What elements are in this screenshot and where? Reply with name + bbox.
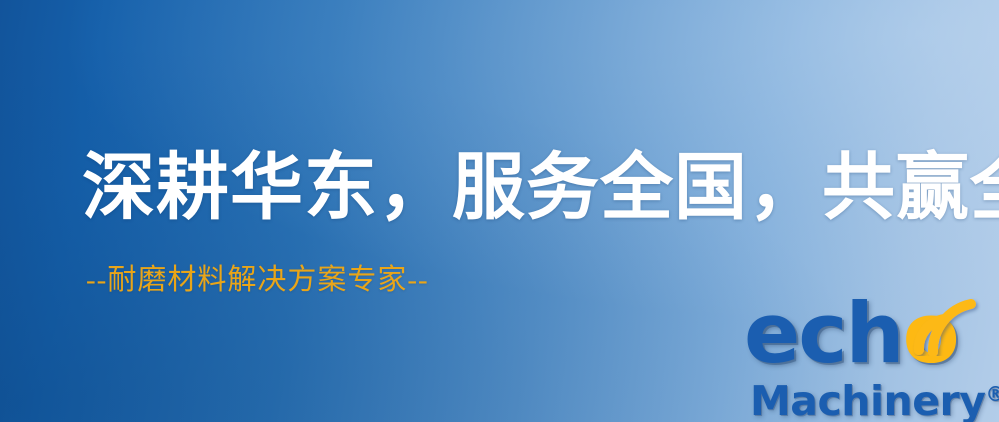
logo-tagline-text: Machinery [750,377,985,422]
registered-trademark-symbol: ® [985,382,999,406]
logo-word-primary: ech [744,285,903,382]
logo-tagline: Machinery® [750,372,999,422]
banner-subtitle: --耐磨材料解决方案专家-- [86,262,429,298]
banner-headline: 深耕华东，服务全国，共赢全球 [82,146,952,230]
promotional-banner: 深耕华东，服务全国，共赢全球 --耐磨材料解决方案专家-- echo Machi… [0,0,999,422]
signal-waves-icon [911,292,985,356]
echo-machinery-logo: echo Machinery® [744,292,996,418]
